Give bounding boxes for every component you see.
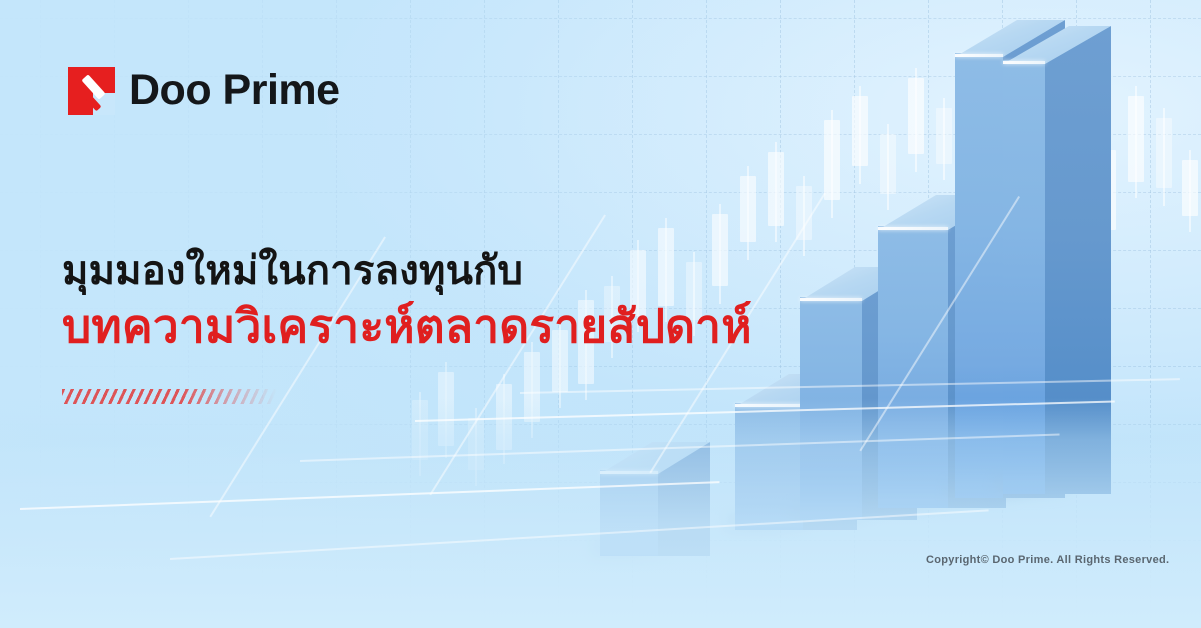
headline-line-2: บทความวิเคราะห์ตลาดรายสัปดาห์ [62, 299, 752, 353]
bar-top-highlight [955, 54, 1003, 57]
bar-front-face [600, 470, 658, 556]
headline-block: มุมมองใหม่ในการลงทุนกับ บทความวิเคราะห์ต… [62, 248, 752, 353]
bar-front-face [955, 53, 1003, 498]
brand-logo[interactable]: Doo Prime [68, 66, 340, 115]
bar-top-highlight [735, 404, 803, 407]
red-hatch-accent [62, 389, 277, 404]
doo-prime-pen-mark-icon [68, 67, 115, 115]
bar-front-face [735, 403, 803, 530]
bar-top-highlight [800, 298, 862, 301]
bar-column [1003, 26, 1111, 494]
bar-front-face [878, 226, 948, 508]
bar-front-face [800, 297, 862, 520]
copyright-text: Copyright© Doo Prime. All Rights Reserve… [926, 554, 1169, 566]
bar-top-highlight [600, 471, 658, 474]
headline-line-1: มุมมองใหม่ในการลงทุนกับ [62, 248, 752, 295]
bar-column [600, 442, 710, 556]
bar-top-highlight [878, 227, 948, 230]
brand-name: Doo Prime [129, 66, 340, 115]
banner-root: Doo Prime มุมมองใหม่ในการลงทุนกับ บทความ… [0, 0, 1201, 628]
bar-top-highlight [1003, 61, 1045, 64]
bar-side-face [1045, 26, 1111, 494]
bar-front-face [1003, 60, 1045, 494]
